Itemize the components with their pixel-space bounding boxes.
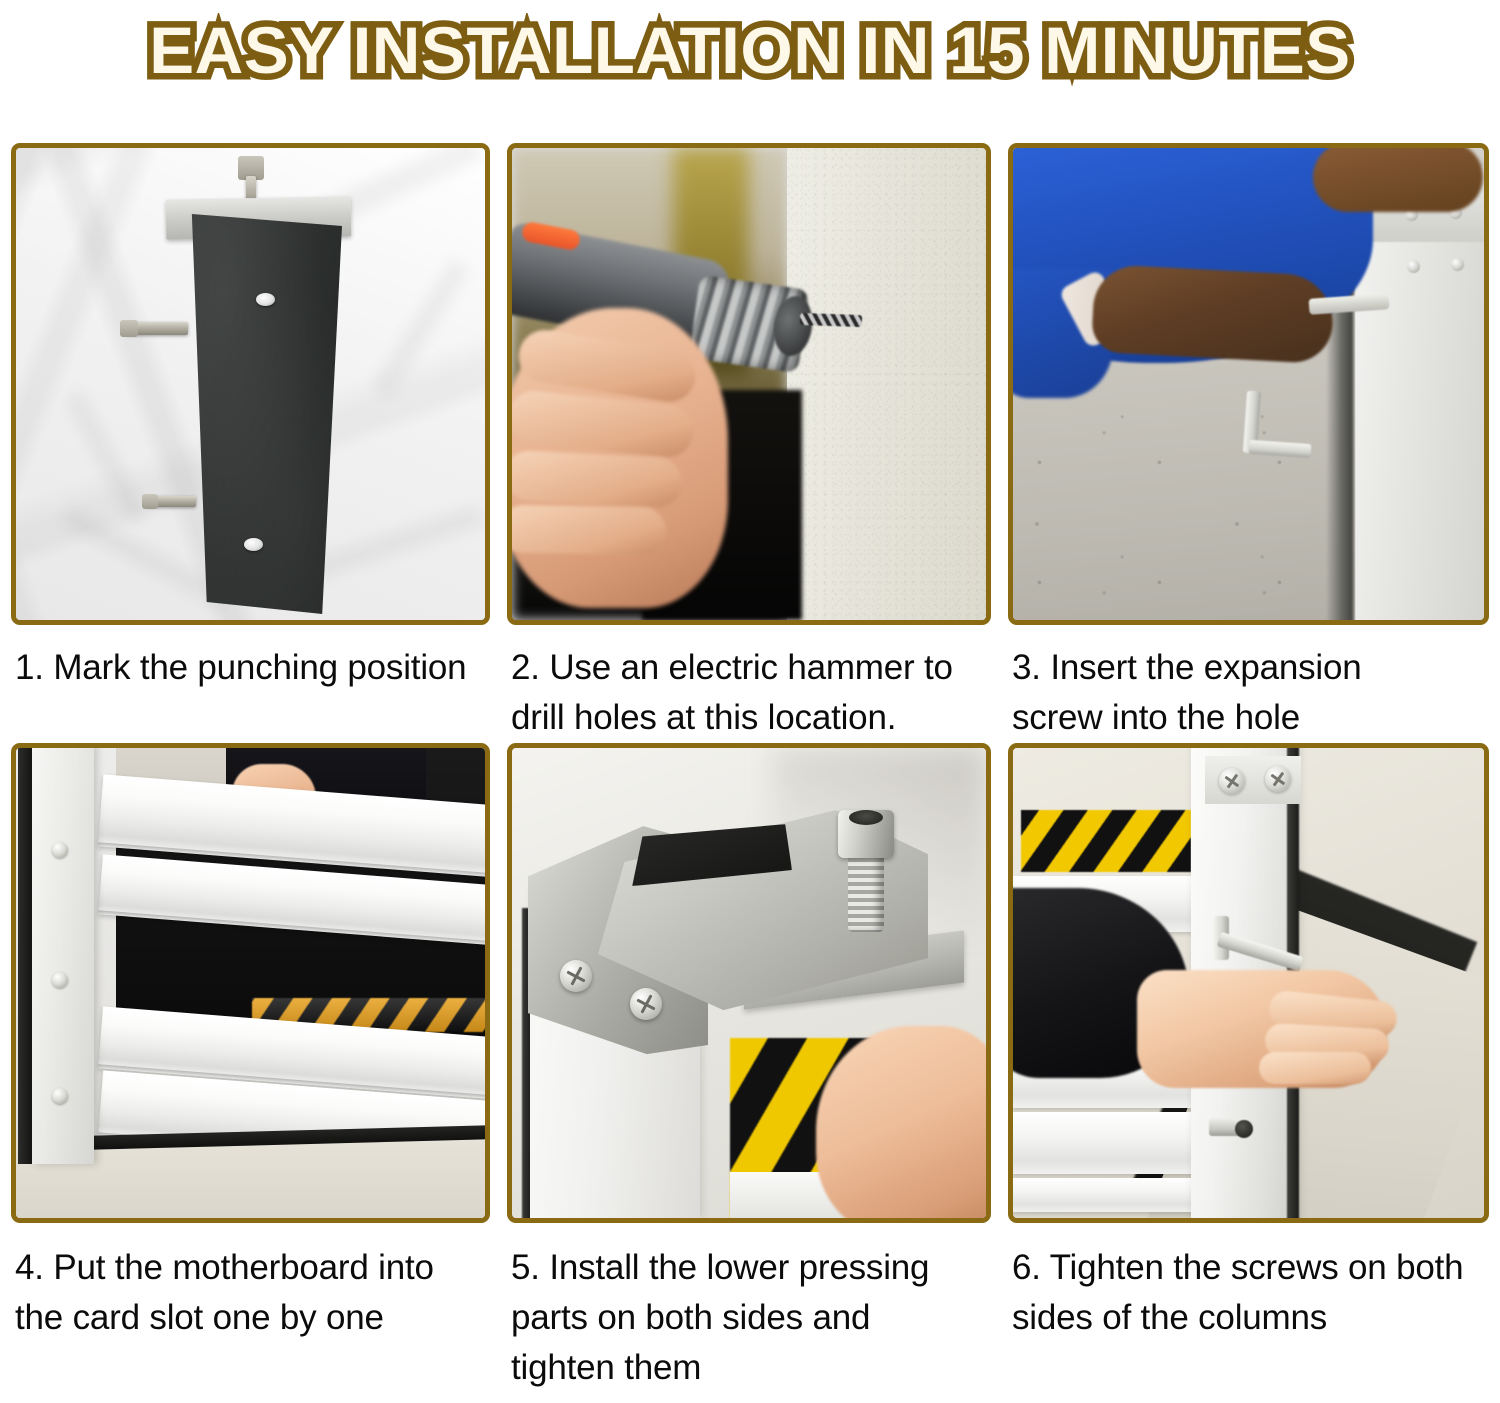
step-caption-5: 5. Install the lower pressing parts on b… <box>507 1223 991 1392</box>
step-caption-4: 4. Put the motherboard into the card slo… <box>11 1223 490 1342</box>
step-caption-2: 2. Use an electric hammer to drill holes… <box>507 625 991 742</box>
step-photo-frame-1 <box>11 143 490 625</box>
step-photo-frame-5 <box>507 743 991 1223</box>
steps-grid: 1. Mark the punching position <box>11 143 1489 1393</box>
installation-guide-page: EASY INSTALLATION IN 15 MINUTES <box>0 0 1500 1403</box>
step-caption-3: 3. Insert the expansion screw into the h… <box>1008 625 1489 742</box>
step-photo-frame-3 <box>1008 143 1489 625</box>
step-photo-frame-2 <box>507 143 991 625</box>
step-photo-frame-4 <box>11 743 490 1223</box>
grid-gap <box>991 743 1008 1393</box>
page-title-banner: EASY INSTALLATION IN 15 MINUTES <box>0 0 1500 100</box>
grid-gap <box>991 143 1008 743</box>
page-title: EASY INSTALLATION IN 15 MINUTES <box>149 17 1351 83</box>
step-photo-5 <box>512 748 986 1218</box>
step-card-4: 4. Put the motherboard into the card slo… <box>11 743 490 1393</box>
grid-gap <box>490 743 507 1393</box>
step-card-1: 1. Mark the punching position <box>11 143 490 743</box>
step-photo-3 <box>1013 148 1484 620</box>
grid-gap <box>490 143 507 743</box>
step-photo-4 <box>16 748 485 1218</box>
step-card-3: 3. Insert the expansion screw into the h… <box>1008 143 1489 743</box>
step-caption-1: 1. Mark the punching position <box>11 625 490 693</box>
step-photo-1 <box>16 148 485 620</box>
step-card-2: 2. Use an electric hammer to drill holes… <box>507 143 991 743</box>
step-photo-6 <box>1013 748 1484 1218</box>
step-photo-frame-6 <box>1008 743 1489 1223</box>
step-card-6: 6. Tighten the screws on both sides of t… <box>1008 743 1489 1393</box>
step-photo-2 <box>512 148 986 620</box>
step-caption-6: 6. Tighten the screws on both sides of t… <box>1008 1223 1489 1342</box>
step-card-5: 5. Install the lower pressing parts on b… <box>507 743 991 1393</box>
